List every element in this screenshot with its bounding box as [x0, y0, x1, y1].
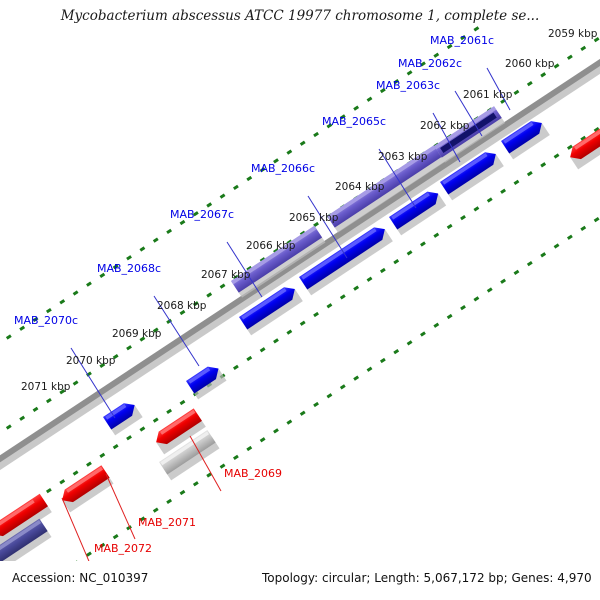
scale-tick-label: 2064 kbp — [335, 181, 384, 193]
scale-tick-label: 2068 kbp — [157, 300, 206, 312]
scale-tick-label: 2059 kbp — [548, 28, 597, 40]
scale-tick-label: 2063 kbp — [378, 151, 427, 163]
reverse-gene-track[interactable] — [0, 120, 600, 561]
genome-map-canvas[interactable] — [0, 26, 600, 561]
accession-label: Accession: NC_010397 — [12, 571, 148, 585]
scale-tick-label: 2065 kbp — [289, 212, 338, 224]
gene-label-mab_2067c[interactable]: MAB_2067c — [170, 208, 234, 221]
scale-tick-label: 2062 kbp — [420, 120, 469, 132]
gene-label-mab_2072[interactable]: MAB_2072 — [94, 542, 152, 555]
scale-tick-label: 2060 kbp — [505, 58, 554, 70]
scale-tick-label: 2069 kbp — [112, 328, 161, 340]
gene-label-mab_2069[interactable]: MAB_2069 — [224, 467, 282, 480]
gene-label-mab_2068c[interactable]: MAB_2068c — [97, 262, 161, 275]
gene-label-mab_2062c[interactable]: MAB_2062c — [398, 57, 462, 70]
scale-tick-label: 2071 kbp — [21, 381, 70, 393]
gene-label-mab_2071[interactable]: MAB_2071 — [138, 516, 196, 529]
gene-label-mab_2070c[interactable]: MAB_2070c — [14, 314, 78, 327]
forward-gene-track[interactable] — [103, 117, 550, 436]
scale-tick-label: 2067 kbp — [201, 269, 250, 281]
footer-bar: Accession: NC_010397 Topology: circular;… — [0, 566, 600, 600]
gene-label-mab_2063c[interactable]: MAB_2063c — [376, 79, 440, 92]
gene-label-mab_2066c[interactable]: MAB_2066c — [251, 162, 315, 175]
page-title: Mycobacterium abscessus ATCC 19977 chrom… — [0, 8, 600, 24]
scale-tick-label: 2061 kbp — [463, 89, 512, 101]
gene-label-mab_2065c[interactable]: MAB_2065c — [322, 115, 386, 128]
scale-tick-label: 2070 kbp — [66, 355, 115, 367]
genome-map-svg — [0, 26, 600, 561]
outer-gene-track[interactable] — [231, 106, 505, 297]
genome-viewer: Mycobacterium abscessus ATCC 19977 chrom… — [0, 0, 600, 600]
genome-summary-label: Topology: circular; Length: 5,067,172 bp… — [262, 571, 592, 585]
gene-label-mab_2061c[interactable]: MAB_2061c — [430, 34, 494, 47]
scale-tick-label: 2066 kbp — [246, 240, 295, 252]
